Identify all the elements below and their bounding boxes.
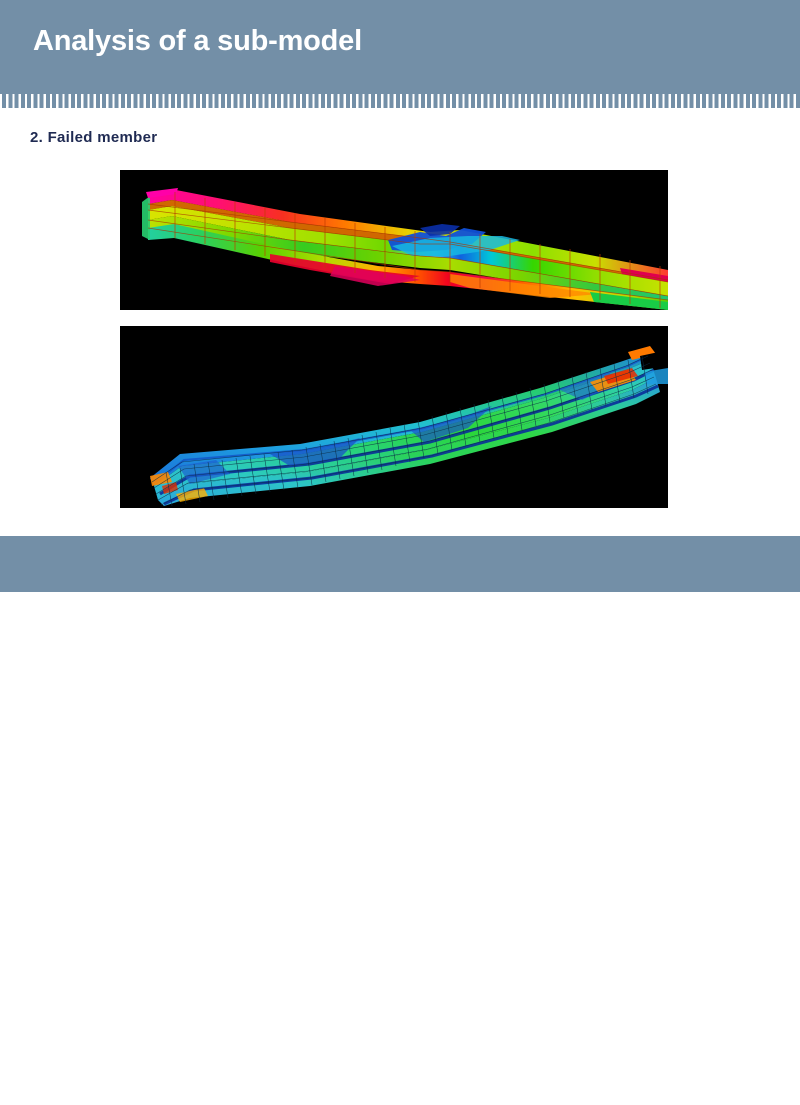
fea-contour-image-top xyxy=(120,170,668,310)
header-band: Analysis of a sub-model xyxy=(0,0,800,108)
footer-band: Muhammad Shah Rukh xyxy=(0,536,800,592)
slide: Analysis of a sub-model 2. Failed member xyxy=(0,0,800,600)
tick-rule-decoration xyxy=(0,94,800,108)
section-heading: 2. Failed member xyxy=(30,129,157,146)
page-title: Analysis of a sub-model xyxy=(33,22,362,60)
contour-left-endcap xyxy=(142,196,150,240)
figure-stress-contour-bottom xyxy=(120,326,668,508)
fea-contour-image-bottom xyxy=(120,326,668,508)
footer-author: Muhammad Shah Rukh xyxy=(14,1088,175,1105)
figure-stress-contour-top xyxy=(120,170,668,310)
